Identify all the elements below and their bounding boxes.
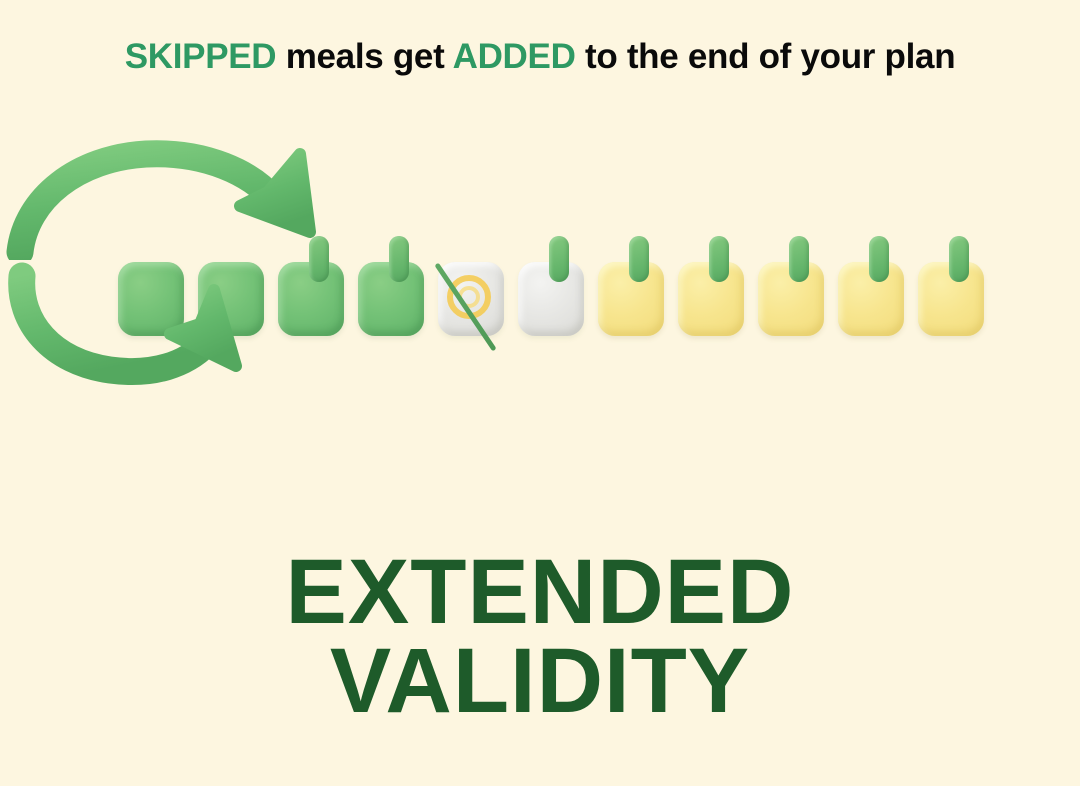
headline: SKIPPED meals get ADDED to the end of yo… [0,36,1080,78]
meal-timeline-illustration [0,140,1080,460]
meal-box-2-completed [198,262,264,336]
meal-box-body [118,262,184,336]
meal-box-9-added [758,262,824,336]
headline-text-2: to the end of your plan [576,37,956,76]
meal-box-5-skipped [438,262,504,336]
meal-box-tab-icon [629,236,649,282]
meal-box-row [118,262,988,338]
meal-box-7-added [598,262,664,336]
curved-arrow-right-icon-top [0,140,340,260]
headline-text-1: meals get [276,37,452,76]
headline-word-added: ADDED [453,37,576,76]
meal-box-tab-icon [549,236,569,282]
meal-box-tab-icon [389,236,409,282]
headline-word-skipped: SKIPPED [125,37,277,76]
meal-box-3-completed [278,262,344,336]
page-title: EXTENDED VALIDITY [0,548,1080,726]
meal-box-4-completed [358,262,424,336]
meal-box-1-completed [118,262,184,336]
meal-box-tab-icon [309,236,329,282]
title-line-2: VALIDITY [0,637,1080,726]
meal-box-10-added [838,262,904,336]
meal-box-8-added [678,262,744,336]
meal-box-body [198,262,264,336]
meal-box-body [438,262,504,336]
meal-box-6-pending [518,262,584,336]
meal-box-tab-icon [709,236,729,282]
meal-box-11-added [918,262,984,336]
title-line-1: EXTENDED [0,548,1080,637]
meal-box-tab-icon [789,236,809,282]
meal-box-tab-icon [949,236,969,282]
meal-box-tab-icon [869,236,889,282]
promo-poster: SKIPPED meals get ADDED to the end of yo… [0,0,1080,786]
